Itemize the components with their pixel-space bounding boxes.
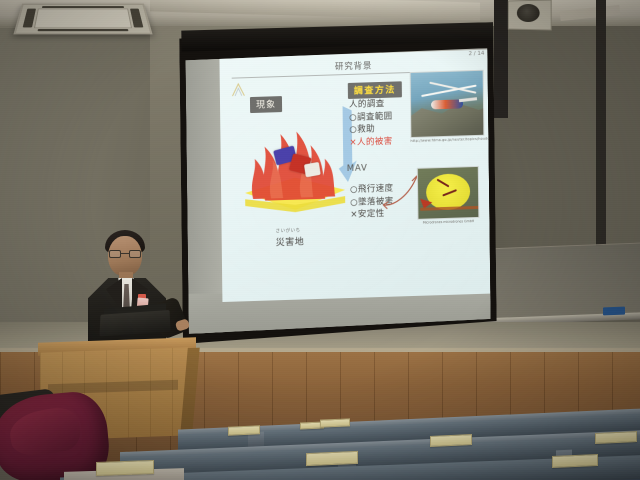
debris-block: [304, 162, 321, 177]
ac-vent: [130, 9, 143, 27]
helicopter-tail: [459, 97, 477, 102]
bullet-item-warning: ×人的被害: [349, 135, 393, 149]
slide-tag-method-label: 調査方法: [354, 85, 396, 96]
lecture-hall-photo: 研究背景 2 / 14 現象 調査方法: [0, 0, 640, 480]
glasses-lens: [109, 250, 121, 258]
ac-vent: [42, 6, 124, 8]
screen-surface: 研究背景 2 / 14 現象 調査方法: [185, 48, 490, 334]
projected-slide: 研究背景 2 / 14 現象 調査方法: [219, 50, 490, 302]
bullet-list-human: 人的調査 ○調査範囲 ○救助 ×人的被害: [349, 98, 393, 149]
desk-nameplate: [306, 451, 358, 466]
mav-photo-caption: Microdrones micro­drones GmbH: [417, 219, 479, 225]
mav-band: [420, 206, 478, 211]
glasses-lens: [129, 250, 141, 258]
disaster-area-illustration: さいがいち 災害地: [234, 100, 356, 236]
wall-recess-shadow: [494, 0, 508, 118]
disaster-area-text: 災害地: [276, 237, 305, 248]
glasses-icon: [109, 250, 141, 258]
whiteboard-eraser[interactable]: [603, 307, 625, 316]
desk-nameplate: [552, 454, 598, 468]
bullet-item: ○墜落被害: [350, 195, 394, 209]
university-logo-icon: [230, 81, 247, 99]
presenter: [78, 228, 188, 353]
bullet-item: ×安定性: [350, 208, 394, 222]
glasses-bridge: [121, 253, 129, 254]
mav-heading: MAV: [347, 163, 368, 174]
wall-speaker-icon: [508, 0, 552, 31]
desk-nameplate: [320, 418, 350, 427]
ceiling-ac-unit-icon: [13, 4, 152, 35]
presenter-hand: [175, 318, 190, 332]
ac-vent: [38, 29, 129, 31]
desk-nameplate: [96, 460, 154, 476]
ac-inner-panel: [34, 8, 131, 28]
helicopter-photo-caption: http://www.fdma.go.jp/neuter/topics/houd…: [410, 137, 484, 143]
desk-nameplate: [228, 425, 260, 435]
helicopter-photo: [410, 70, 485, 138]
screen-blank-margin: [185, 51, 222, 333]
projection-screen: 研究背景 2 / 14 現象 調査方法: [179, 22, 497, 344]
slide-page-number: 2 / 14: [469, 51, 485, 58]
desk-nameplate: [595, 431, 637, 444]
bullet-list-mav: ○飛行速度 ○墜落被害 ×安定性: [350, 183, 394, 222]
speaker-cone: [517, 4, 540, 22]
desk-nameplate: [430, 434, 472, 447]
disaster-area-label: さいがいち 災害地: [276, 229, 305, 247]
slide-tag-method: 調査方法: [348, 81, 402, 99]
bullet-item: ○飛行速度: [350, 183, 394, 197]
mav-photo: [417, 166, 480, 220]
bullet-item: ○調査範囲: [349, 110, 393, 124]
ac-vent: [23, 9, 36, 27]
disaster-area-ruby: さいがいち: [276, 229, 305, 234]
